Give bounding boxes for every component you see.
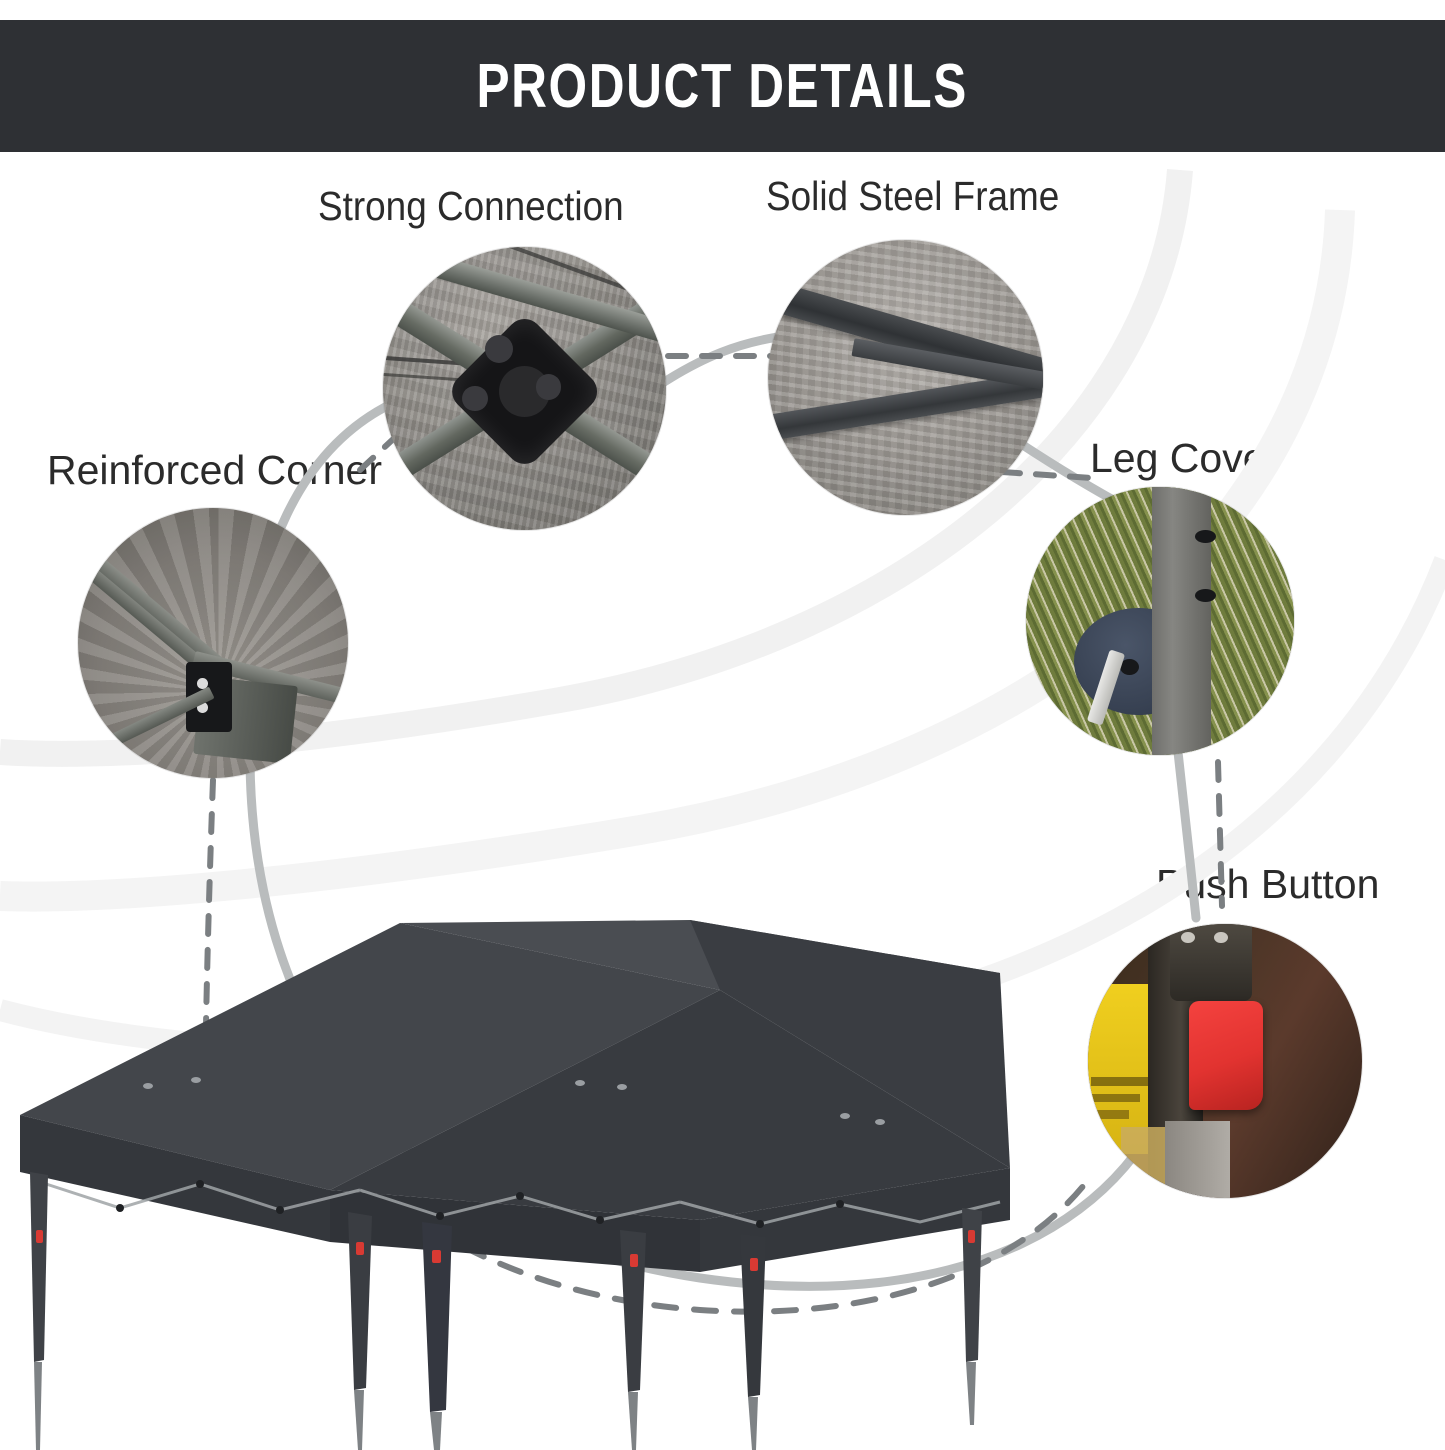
leg-cover-sleeve bbox=[1152, 487, 1211, 755]
gazebo-leg-inner-pole bbox=[34, 1362, 42, 1450]
gazebo-leg bbox=[30, 1172, 48, 1362]
warning-text-line bbox=[1091, 1077, 1149, 1085]
leg-lower-sleeve bbox=[1165, 1121, 1231, 1198]
canopy-vent-eyelet bbox=[840, 1113, 850, 1119]
gazebo-leg bbox=[348, 1212, 372, 1390]
detail-photo-strong-connection bbox=[383, 247, 666, 530]
red-push-button bbox=[1189, 1001, 1263, 1111]
hub-rivet bbox=[462, 386, 487, 411]
canopy-vent-eyelet bbox=[617, 1084, 627, 1090]
hub-rivet bbox=[536, 374, 561, 399]
detail-photo-reinforced-corner bbox=[78, 508, 348, 778]
warning-text-line bbox=[1091, 1110, 1129, 1118]
detail-photo-push-button bbox=[1088, 924, 1362, 1198]
detail-photo-leg-cover bbox=[1026, 487, 1294, 755]
gazebo-leg-inner-pole bbox=[966, 1362, 976, 1425]
detail-photo-solid-steel-frame bbox=[768, 240, 1043, 515]
canopy-vent-eyelet bbox=[191, 1077, 201, 1083]
gazebo-leg-inner-pole bbox=[354, 1390, 364, 1450]
gazebo-leg-inner-pole bbox=[430, 1412, 442, 1450]
bracket-screw bbox=[1214, 932, 1228, 943]
canopy-vent-eyelet bbox=[575, 1080, 585, 1086]
canopy-vent-eyelet bbox=[875, 1119, 885, 1125]
gazebo-leg-inner-pole bbox=[748, 1397, 758, 1450]
dash-legcover-to-pushbutton-leader bbox=[1218, 762, 1222, 906]
canopy-vent-eyelet bbox=[143, 1083, 153, 1089]
product-image-gazebo bbox=[0, 890, 1050, 1450]
hub-rivet bbox=[485, 335, 513, 363]
label-lower-strip bbox=[1121, 1127, 1165, 1198]
infographic-canvas: PRODUCT DETAILS Strong Connection Solid … bbox=[0, 0, 1445, 1445]
warning-text-line bbox=[1091, 1094, 1140, 1102]
bracket-screw bbox=[1181, 932, 1195, 943]
gazebo-leg-inner-pole bbox=[628, 1392, 638, 1450]
